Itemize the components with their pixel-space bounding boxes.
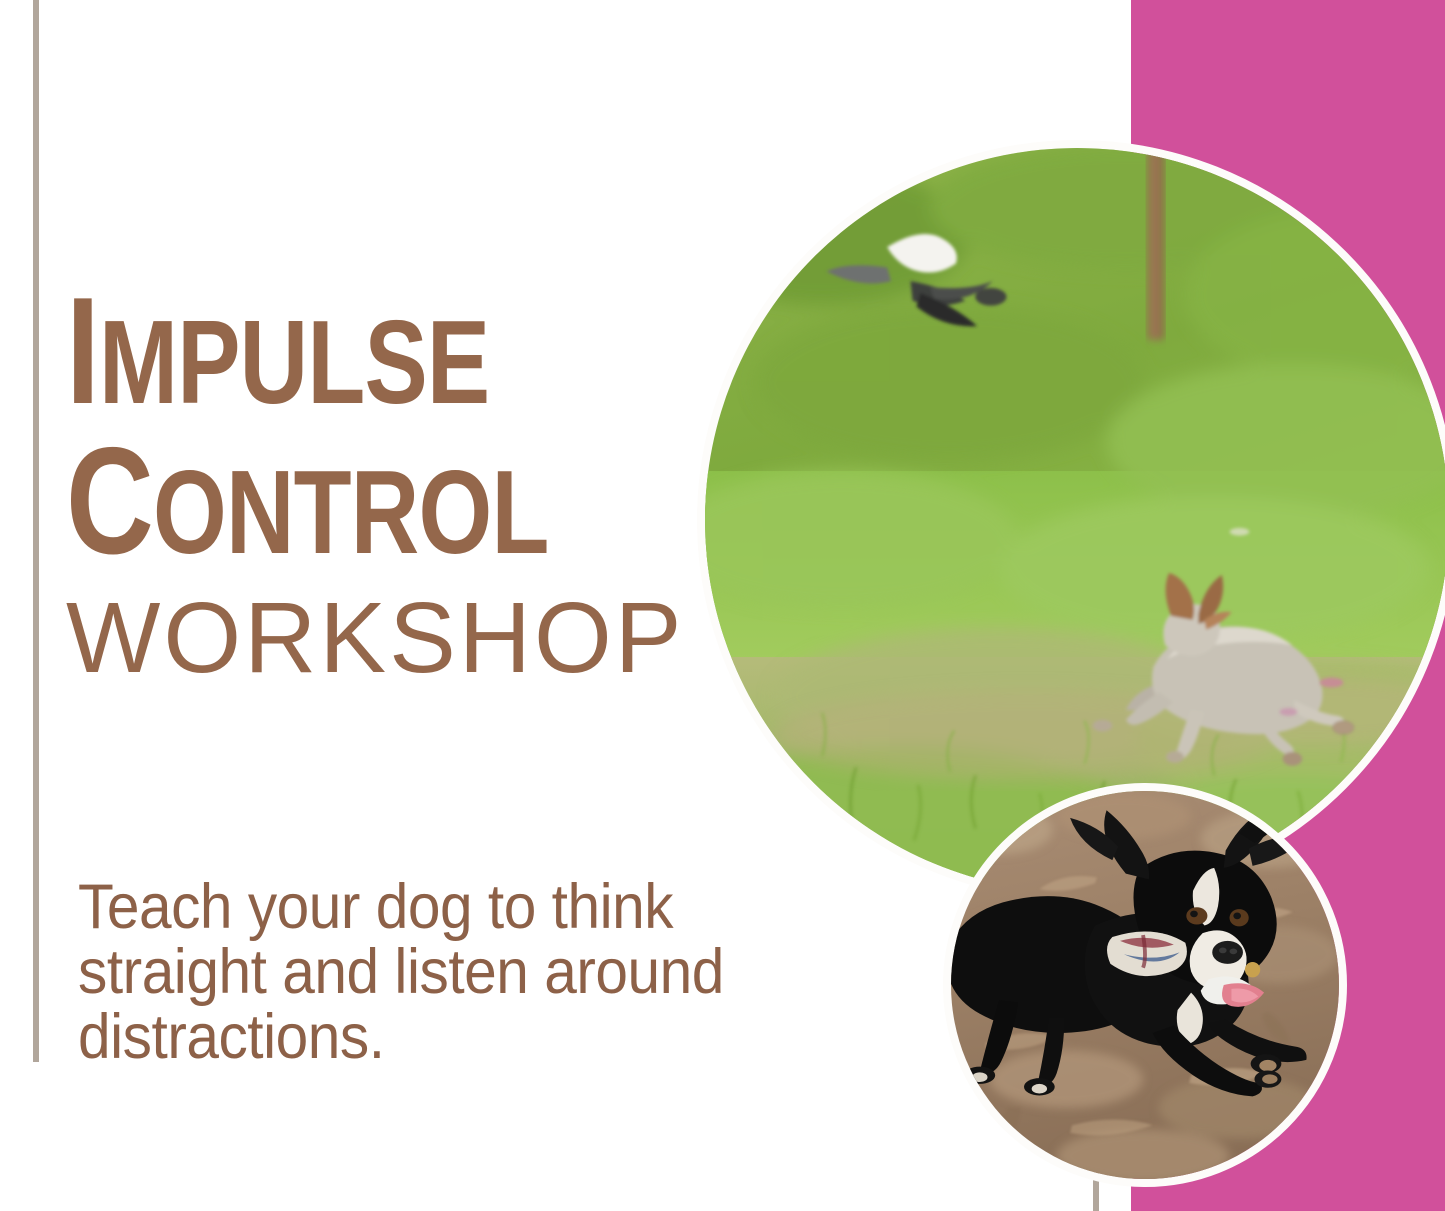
title-lead-cap-2: C: [66, 416, 153, 586]
photo-circle-black-spaniel: [943, 783, 1347, 1187]
left-vertical-rule: [33, 0, 39, 1062]
title-rest-2: ONTROL: [153, 447, 549, 579]
dog-chasing-bird-in-grass-image: [705, 148, 1445, 892]
subtitle-text: Teach your dog to think straight and lis…: [78, 875, 850, 1070]
page-title: IMPULSE CONTROL WORKSHOP: [66, 282, 716, 688]
poster-canvas: IMPULSE CONTROL WORKSHOP Teach your dog …: [0, 0, 1445, 1211]
title-line-impulse: IMPULSE: [66, 282, 586, 422]
title-line-workshop: WORKSHOP: [66, 588, 716, 688]
title-rest-1: MPULSE: [99, 297, 489, 429]
black-cocker-spaniel-running-image: [951, 791, 1339, 1179]
photo-circle-dog-chasing-bird: [697, 140, 1445, 900]
title-line-control: CONTROL: [66, 432, 586, 572]
title-lead-cap-1: I: [66, 266, 99, 436]
